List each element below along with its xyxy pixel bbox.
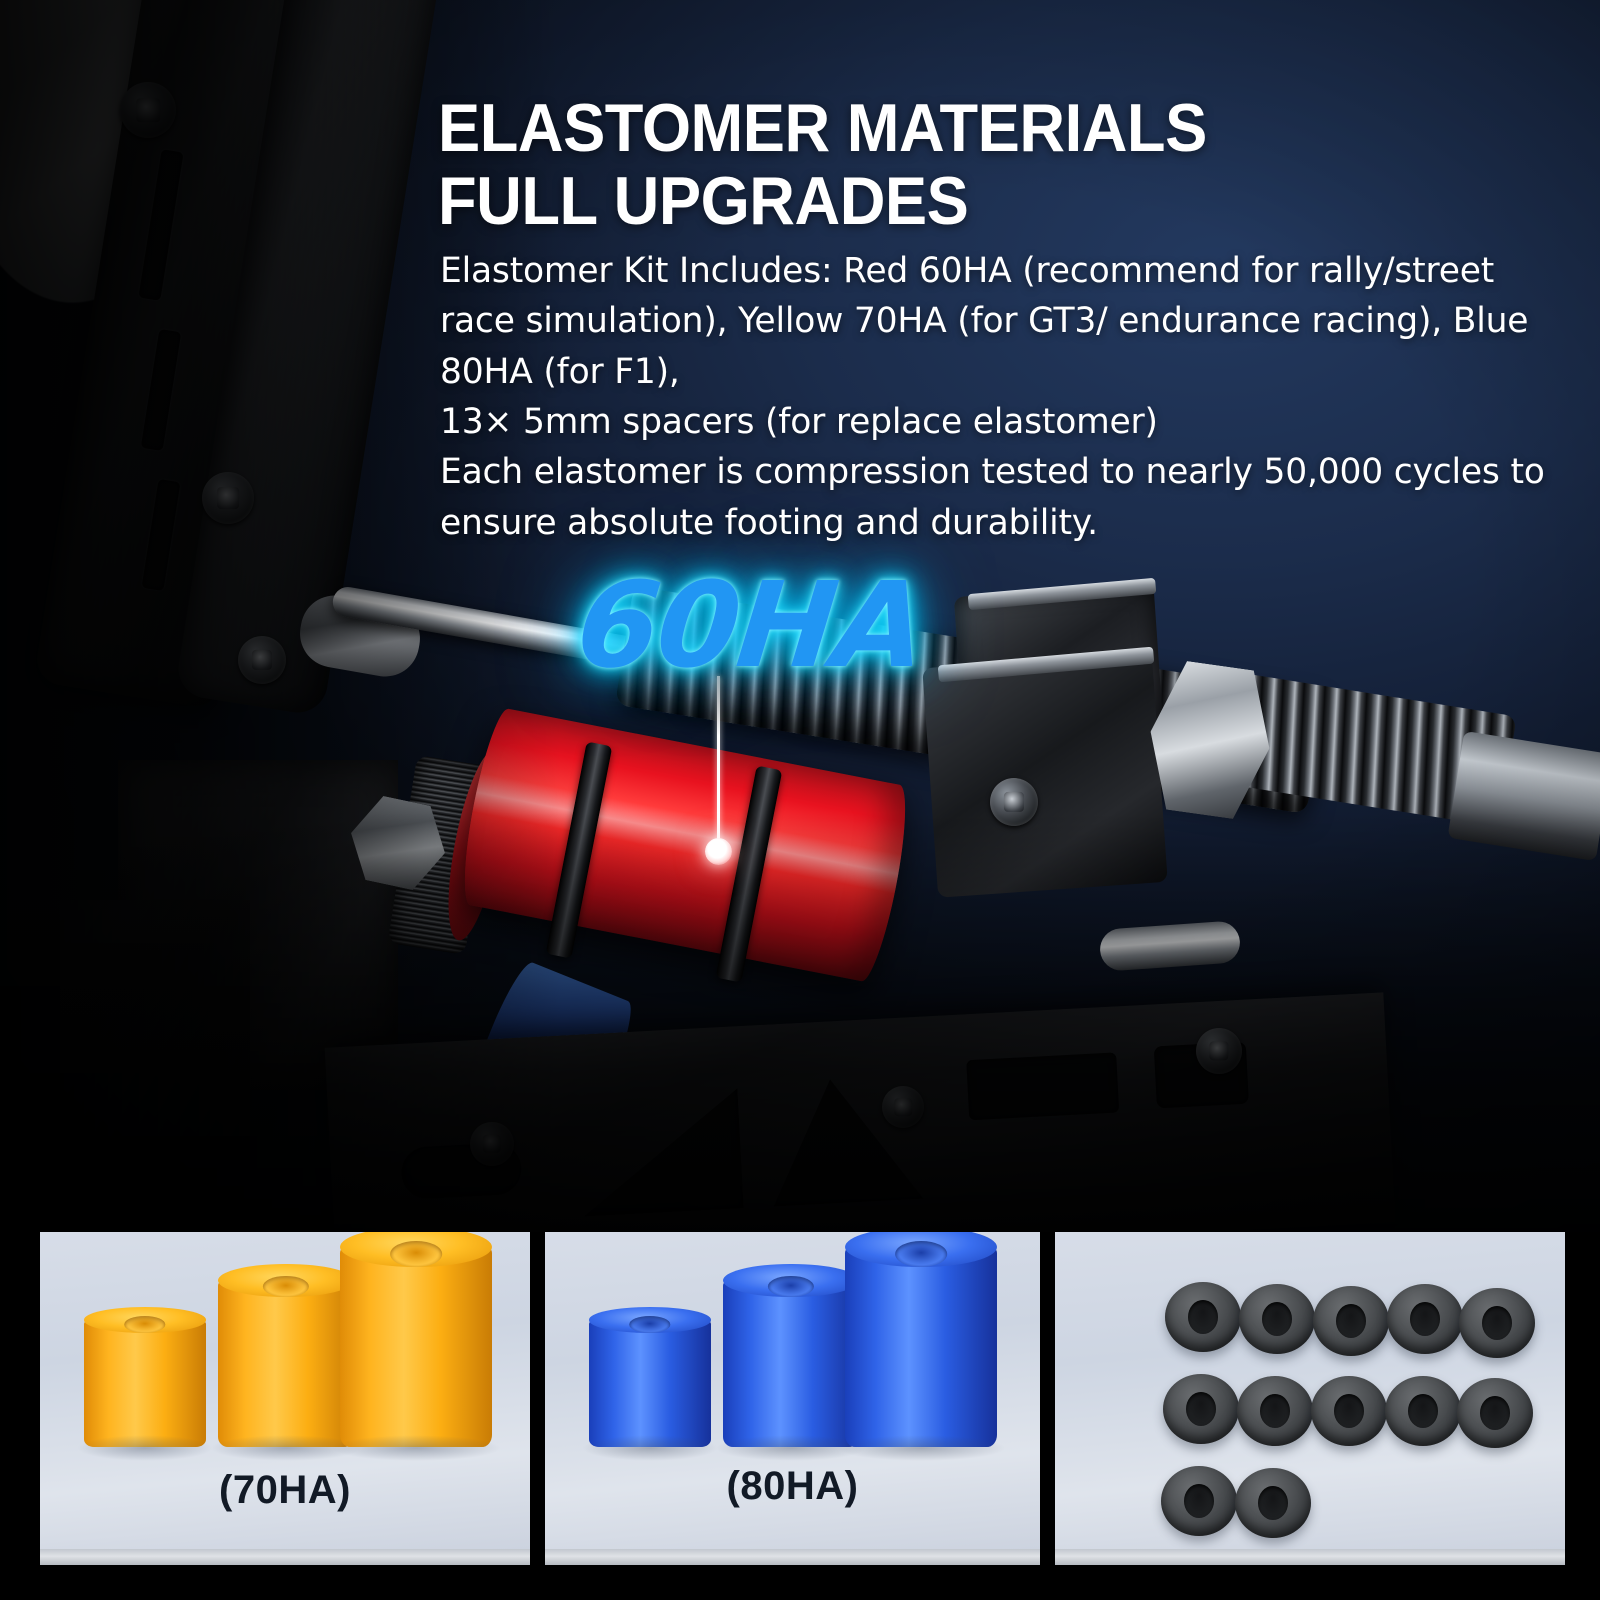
spacer-ring (1387, 1284, 1463, 1354)
callout-leader-line (717, 676, 720, 848)
spacer-ring (1311, 1376, 1387, 1446)
headline-line-2: FULL UPGRADES (438, 165, 1480, 238)
infographic-root: 60HA ELASTOMER MATERIALS FULL UPGRADES E… (0, 0, 1600, 1600)
elastomer-small (589, 1319, 711, 1447)
description-paragraph-2: 13× 5mm spacers (for replace elastomer) (440, 397, 1570, 447)
hero-bottom-shade (0, 812, 1600, 1232)
cylinder-bore (124, 1316, 165, 1333)
spacer-ring (1313, 1286, 1389, 1356)
elastomer-large (845, 1245, 997, 1447)
panel-shelf (545, 1549, 1040, 1565)
panel-70ha: (70HA) (40, 1232, 530, 1565)
product-panel-strip: (70HA) (80HA) (0, 1232, 1600, 1600)
callout-marker-dot (705, 838, 732, 865)
cylinder-shadow (582, 1435, 719, 1461)
panel-label-80ha: (80HA) (545, 1464, 1040, 1509)
cylinder-bore (629, 1316, 670, 1333)
spacer-ring (1239, 1284, 1315, 1354)
spacer-ring (1165, 1282, 1241, 1352)
cylinder-shadow (331, 1435, 501, 1461)
spacer-ring (1237, 1376, 1313, 1446)
cylinder-bore (895, 1241, 947, 1267)
spacer-ring (1161, 1466, 1237, 1536)
spacer-ring (1385, 1376, 1461, 1446)
cylinder-bore (768, 1276, 814, 1298)
panel-shelf (40, 1549, 530, 1565)
panel-80ha: (80HA) (545, 1232, 1040, 1565)
description-paragraph-3: Each elastomer is compression tested to … (440, 447, 1570, 548)
spacer-ring (1459, 1288, 1535, 1358)
panel-label-70ha: (70HA) (40, 1468, 530, 1513)
panel-spacers (1055, 1232, 1565, 1565)
spacer-ring (1163, 1374, 1239, 1444)
description-text: Elastomer Kit Includes: Red 60HA (recomm… (440, 246, 1570, 548)
elastomer-large (340, 1245, 492, 1447)
cylinder-bore (390, 1241, 442, 1267)
headline-line-1: ELASTOMER MATERIALS (438, 92, 1480, 165)
cylinder-bore (263, 1276, 309, 1298)
panel-shelf (1055, 1549, 1565, 1565)
cylinder-shadow (836, 1435, 1006, 1461)
spacer-ring (1235, 1468, 1311, 1538)
elastomer-medium (723, 1279, 859, 1447)
elastomer-small (84, 1319, 206, 1447)
cylinder-shadow (77, 1435, 214, 1461)
callout-60ha-label: 60HA (572, 566, 931, 684)
description-paragraph-1: Elastomer Kit Includes: Red 60HA (recomm… (440, 246, 1570, 397)
spacer-ring (1457, 1378, 1533, 1448)
page-title: ELASTOMER MATERIALS FULL UPGRADES (438, 92, 1480, 239)
elastomer-medium (218, 1279, 354, 1447)
